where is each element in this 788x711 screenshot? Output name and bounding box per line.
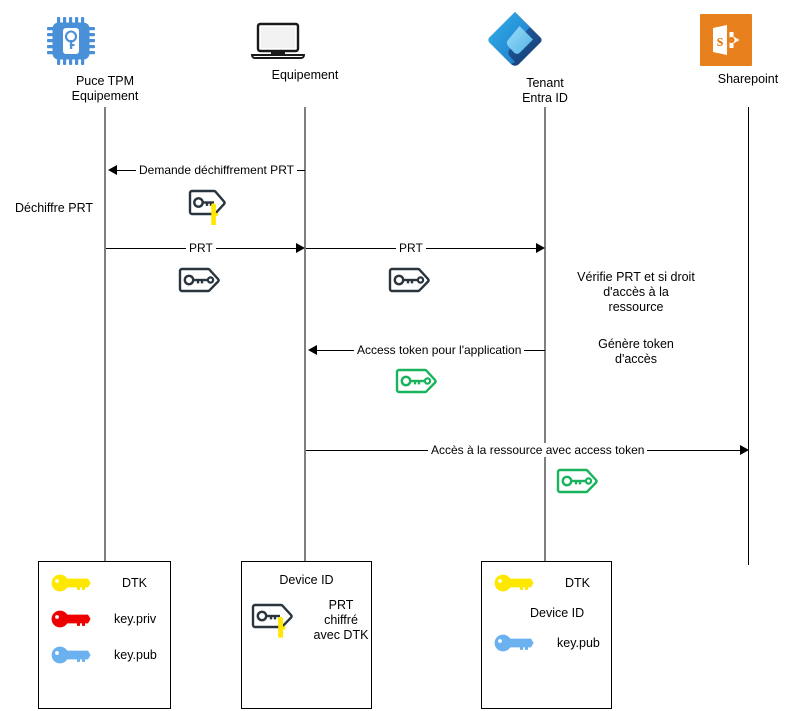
actor-equipement: Equipement [249,20,361,83]
tpm-chip-icon [44,14,166,68]
legend-label-key-pub: key.pub [114,648,157,663]
key-blue-icon [51,646,96,664]
actor-label-tenant: Tenant Entra ID [484,76,606,106]
legend-label-dtk: DTK [122,576,147,591]
actor-sharepoint: s Sharepoint [700,14,788,87]
legend-label-prt-chiffre: PRT chiffré avec DTK [311,598,371,643]
note-dechiffre-prt: Déchiffre PRT [6,201,102,216]
legend-row-key-priv: key.priv [51,610,156,628]
legend-row-tenant-device-id: Device ID [530,606,584,621]
actor-label-equipement: Equipement [249,68,361,83]
lifeline-tenant [544,107,546,562]
legend-label-tenant-key-pub: key.pub [557,636,600,651]
actor-tenant: Tenant Entra ID [484,8,606,106]
note-genere-token: Génère token d'accès [566,337,706,367]
legend-row-key-pub: key.pub [51,646,157,664]
sequence-diagram-canvas: Puce TPM Equipement Equipement [0,0,788,711]
prt-encrypted-token-icon-2 [251,601,307,641]
prt-token-icon-1 [178,264,234,296]
access-token-icon-1 [395,365,451,397]
note-verifie-prt: Vérifie PRT et si droit d'accès à la res… [556,270,716,315]
actor-tpm: Puce TPM Equipement [44,14,166,104]
prt-token-icon-2 [388,264,444,296]
legend-label-tenant-device-id: Device ID [530,606,584,621]
legend-box-tenant: DTK Device ID key.pub [481,561,612,709]
arrowhead-access-token [308,345,317,355]
lifeline-sharepoint [748,107,749,565]
message-label-acces-ressource: Accès à la ressource avec access token [428,443,647,457]
legend-row-tenant-dtk: DTK [494,574,590,592]
message-label-prt-2: PRT [396,241,426,255]
key-yellow-icon [51,574,96,592]
actor-label-sharepoint: Sharepoint [700,72,788,87]
legend-label-tenant-dtk: DTK [565,576,590,591]
laptop-icon [249,20,361,62]
legend-row-prt-chiffre: PRT chiffré avec DTK [251,598,371,643]
legend-row-tenant-key-pub: key.pub [494,634,600,652]
message-label-demande-dechiffrement: Demande déchiffrement PRT [136,163,297,177]
arrowhead-prt-2 [536,243,545,253]
key-red-icon [51,610,96,628]
prt-encrypted-token-icon-1 [176,186,236,228]
actor-label-tpm: Puce TPM Equipement [44,74,166,104]
arrowhead-demande-dechiffrement [108,165,117,175]
lifeline-tpm [104,107,106,562]
message-label-access-token: Access token pour l'application [354,343,524,357]
legend-row-dtk: DTK [51,574,147,592]
legend-box-tpm: DTK key.priv [38,561,171,709]
arrowhead-prt-1 [296,243,305,253]
access-token-icon-2 [556,465,612,497]
entra-id-icon [484,8,606,70]
key-blue-icon-2 [494,634,539,652]
arrowhead-acces-ressource [740,445,749,455]
lifeline-equipement [304,107,306,562]
svg-text:s: s [717,31,724,50]
sharepoint-icon: s [700,14,788,66]
message-label-prt-1: PRT [186,241,216,255]
key-yellow-icon-2 [494,574,539,592]
legend-box-equipement: Device ID PRT chiffré avec DTK [241,561,372,709]
legend-title-device-id: Device ID [242,573,371,587]
legend-label-key-priv: key.priv [114,612,156,627]
